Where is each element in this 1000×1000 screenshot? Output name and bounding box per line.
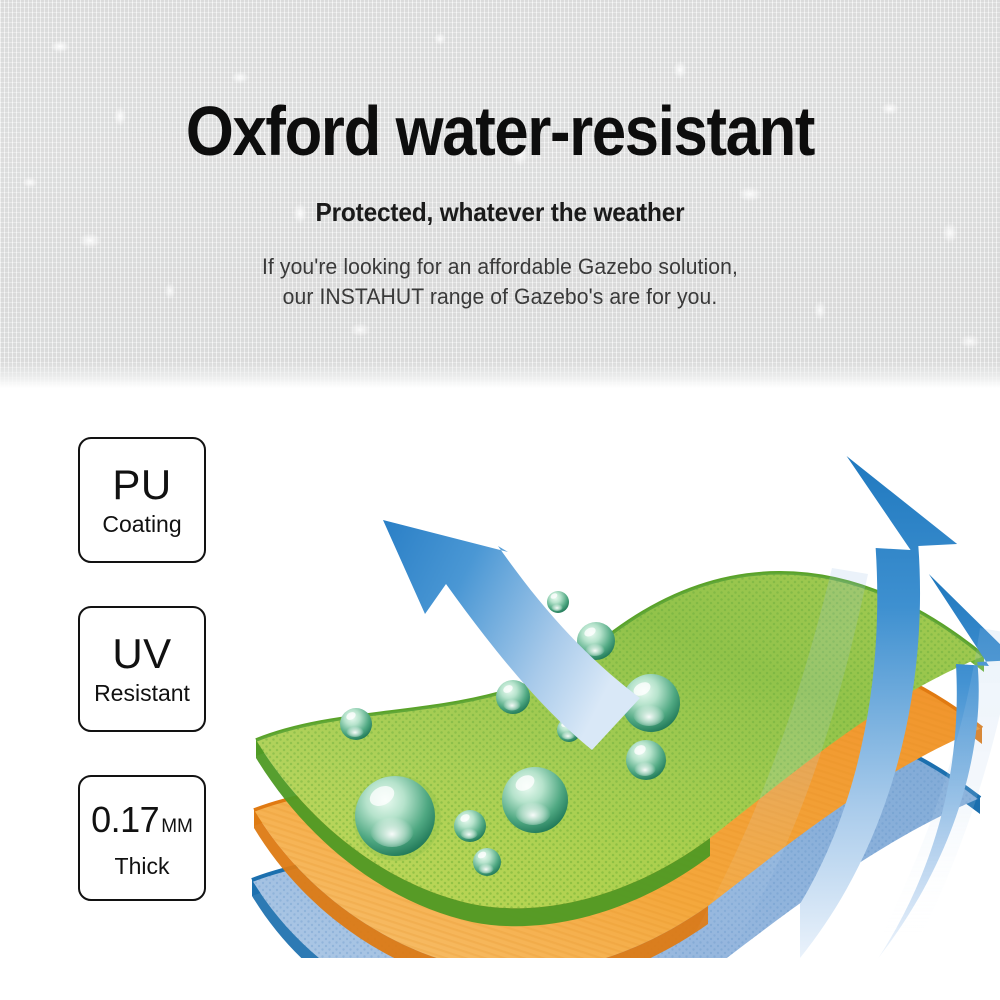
spec-badge-value: PU: [112, 462, 171, 508]
header-banner: Oxford water-resistant Protected, whatev…: [0, 0, 1000, 388]
water-droplet: [454, 810, 486, 842]
spec-badge-value-text: UV: [112, 631, 171, 677]
body-copy-line-1: If you're looking for an affordable Gaze…: [20, 252, 980, 282]
water-droplet: [547, 591, 569, 613]
water-droplet: [340, 708, 372, 740]
water-droplet: [496, 680, 530, 714]
page-title: Oxford water-resistant: [60, 96, 940, 166]
spec-badge-value: UV: [112, 631, 171, 677]
page-body-copy: If you're looking for an affordable Gaze…: [20, 252, 980, 312]
water-droplet: [353, 775, 441, 861]
page-subtitle: Protected, whatever the weather: [30, 197, 970, 228]
body-copy-line-2: our INSTAHUT range of Gazebo's are for y…: [20, 282, 980, 312]
spec-badge-label: Thick: [115, 853, 170, 880]
header-bottom-fade: [0, 362, 1000, 388]
spec-badge-label: Resistant: [94, 680, 190, 707]
spec-badge-value-text: PU: [112, 462, 171, 508]
spec-badge-uv-resistant: UV Resistant: [78, 606, 206, 732]
water-droplet: [502, 767, 568, 833]
spec-badge-pu-coating: PU Coating: [78, 437, 206, 563]
spec-badge-label: Coating: [102, 511, 181, 538]
water-droplet: [626, 740, 666, 780]
spec-badge-value: 0.17MM: [91, 797, 193, 850]
spec-badge-unit: MM: [161, 804, 193, 850]
spec-badge-value-text: 0.17: [91, 797, 159, 843]
spec-badge-thickness: 0.17MM Thick: [78, 775, 206, 901]
three-layer-fabric-illustration: [240, 398, 1000, 958]
water-droplet: [473, 848, 501, 876]
spec-badge-list: PU Coating UV Resistant 0.17MM Thick: [78, 437, 210, 944]
